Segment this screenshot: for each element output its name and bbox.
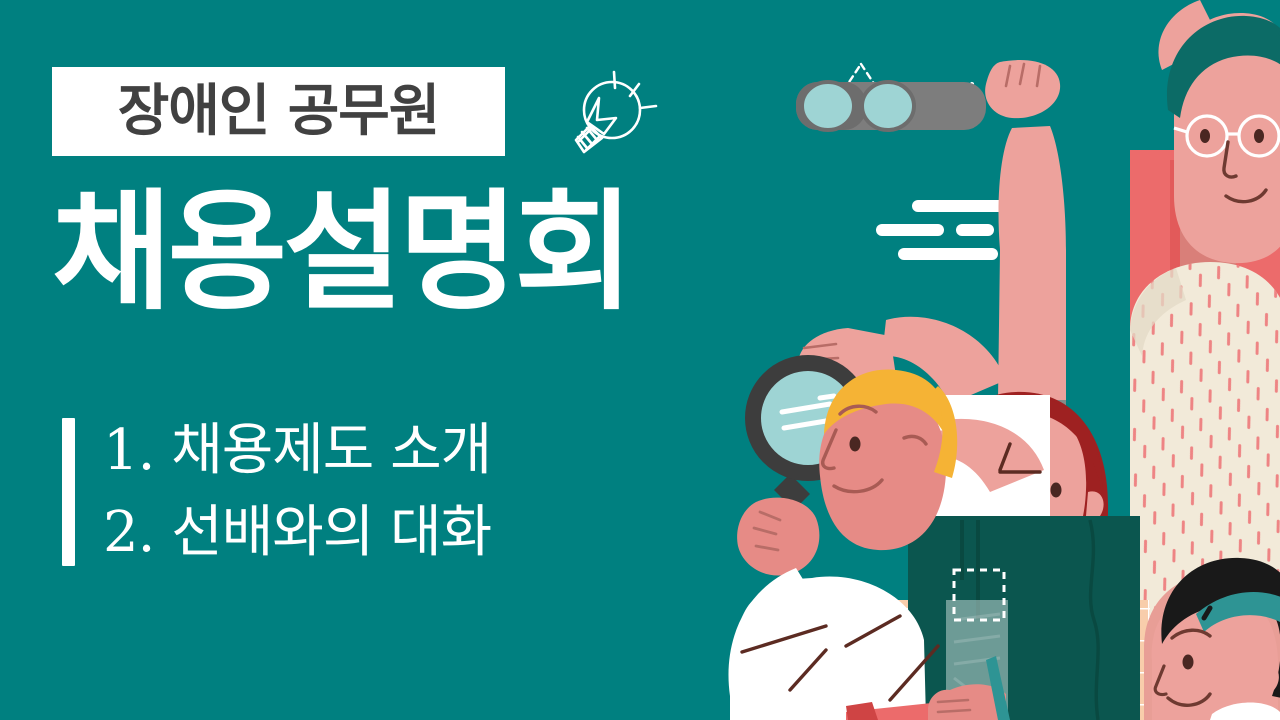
badge-label-container: 장애인 공무원 [52,67,505,156]
agenda-accent-bar [62,418,75,566]
badge-label: 장애인 공무원 [118,84,440,140]
agenda-list: 1. 채용제도 소개 2. 선배와의 대화 [103,418,491,566]
lightbulb-icon [556,58,668,170]
page-title: 채용설명회 [52,180,630,326]
list-item: 1. 채용제도 소개 [103,418,491,484]
people-illustration [700,0,1280,720]
promotional-poster: 장애인 공무원 채용설명회 1. 채용제도 소개 2. 선배와의 대화 [0,0,1280,720]
list-item: 2. 선배와의 대화 [103,500,491,566]
agenda-block: 1. 채용제도 소개 2. 선배와의 대화 [62,418,491,566]
